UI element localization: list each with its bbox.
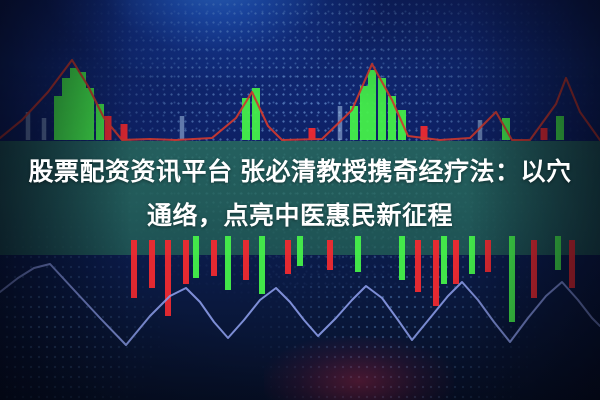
headline-line-2: 通络，点亮中医惠民新征程	[14, 194, 586, 238]
headline: 股票配资资讯平台 张必清教授携奇经疗法：以穴 通络，点亮中医惠民新征程	[0, 150, 600, 238]
headline-line-1: 股票配资资讯平台 张必清教授携奇经疗法：以穴	[14, 150, 586, 194]
banner-image: 股票配资资讯平台 张必清教授携奇经疗法：以穴 通络，点亮中医惠民新征程	[0, 0, 600, 400]
